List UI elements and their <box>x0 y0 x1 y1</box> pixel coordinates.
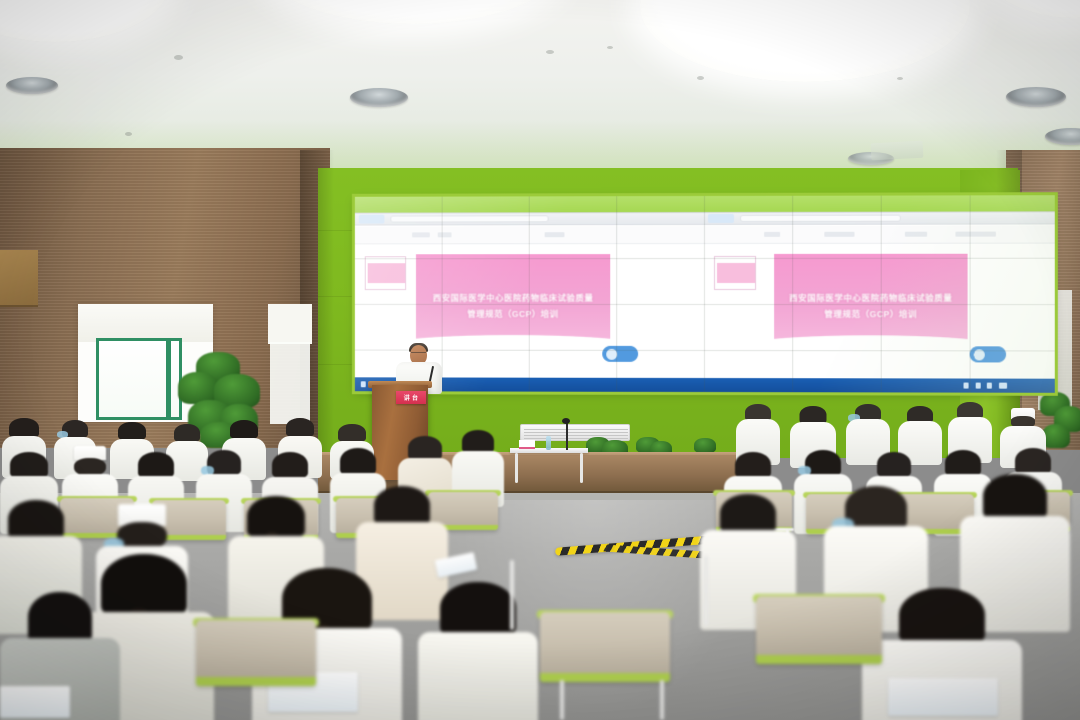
wall-cabinet <box>0 250 38 307</box>
name-placard <box>519 440 535 449</box>
glasses-icon <box>411 352 426 355</box>
recessed-spotlight-icon <box>1006 87 1066 107</box>
conference-hall-photo: 西安国际医学中心医院药物临床试验质量 管理规范（GCP）培训 <box>0 0 1080 720</box>
mic-icon <box>566 422 568 450</box>
handout-notepad <box>0 686 70 718</box>
ceiling-vent <box>871 141 924 161</box>
window-pane <box>270 342 310 424</box>
window-mullion <box>166 338 171 420</box>
table-leg <box>515 453 518 483</box>
table-leg <box>580 453 583 483</box>
led-video-wall[interactable]: 西安国际医学中心医院药物临床试验质量 管理规范（GCP）培训 <box>355 195 1055 393</box>
podium-sign: 讲 台 <box>396 391 426 404</box>
screen-glare <box>355 195 1055 393</box>
plant-icon <box>1040 392 1080 452</box>
recessed-spotlight-icon <box>6 77 58 94</box>
mic-icon <box>562 418 570 424</box>
recessed-spotlight-icon <box>350 88 408 107</box>
handout-notepad <box>888 678 998 716</box>
water-bottle <box>546 436 551 450</box>
window-roller-blind <box>268 304 312 344</box>
window-roller-blind <box>78 304 213 342</box>
